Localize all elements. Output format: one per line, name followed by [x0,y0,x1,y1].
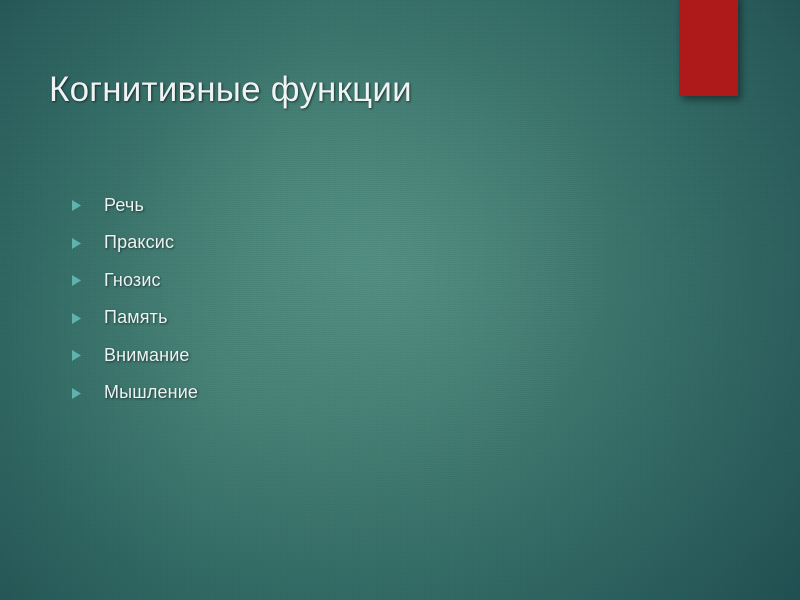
list-item[interactable]: Мышление [72,374,692,412]
list-item-label: Внимание [104,344,190,366]
triangle-right-icon [72,388,81,399]
list-item[interactable]: Внимание [72,336,692,374]
triangle-right-icon [72,275,81,286]
red-accent-rectangle [679,0,738,96]
list-item-label: Праксис [104,231,174,253]
triangle-right-icon [72,238,81,249]
list-item-label: Гнозис [104,269,161,291]
bullet-list: Речь Праксис Гнозис [72,186,692,411]
triangle-right-icon [72,200,81,211]
presentation-slide: Когнитивные функции Речь Праксис [0,0,800,600]
list-item[interactable]: Память [72,299,692,337]
triangle-right-icon [72,313,81,324]
slide-title: Когнитивные функции [49,69,649,111]
list-item[interactable]: Гнозис [72,261,692,299]
list-item-label: Мышление [104,381,198,403]
triangle-right-icon [72,350,81,361]
list-item[interactable]: Речь [72,186,692,224]
list-item-label: Речь [104,194,144,216]
list-item-label: Память [104,306,168,328]
list-item[interactable]: Праксис [72,224,692,262]
